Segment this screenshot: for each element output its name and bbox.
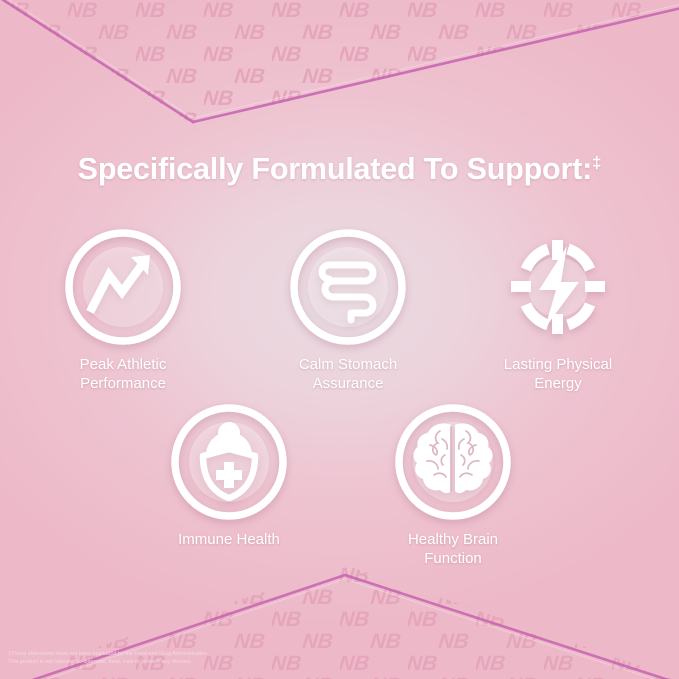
trending-arrow-icon xyxy=(64,228,182,346)
lightning-bolt-icon xyxy=(499,228,617,346)
benefit-peak-athletic-performance: Peak Athletic Performance xyxy=(28,228,218,393)
benefit-label: Immune Health xyxy=(134,530,324,549)
benefit-label-line2: Performance xyxy=(28,374,218,393)
icon-ring xyxy=(394,403,512,521)
icon-ring xyxy=(64,228,182,346)
benefit-lasting-physical-energy: Lasting Physical Energy xyxy=(463,228,653,393)
page-title-text: Specifically Formulated To Support: xyxy=(78,152,592,186)
benefit-label-line1: Lasting Physical xyxy=(463,355,653,374)
benefit-immune-health: Immune Health xyxy=(134,403,324,549)
benefit-calm-stomach-assurance: Calm Stomach Assurance xyxy=(253,228,443,393)
benefit-label-line2: Assurance xyxy=(253,374,443,393)
benefit-label-line2: Function xyxy=(358,549,548,568)
page-title-dagger: ‡ xyxy=(592,153,601,172)
benefit-label-line1: Peak Athletic xyxy=(28,355,218,374)
icon-ring xyxy=(499,228,617,346)
disclaimer-line1: ‡These statements have not been evaluate… xyxy=(8,650,428,658)
benefit-label-line1: Immune Health xyxy=(134,530,324,549)
disclaimer-line2: This product is not intended to diagnose… xyxy=(8,658,428,666)
benefit-label: Peak Athletic Performance xyxy=(28,355,218,393)
benefit-label-line2: Energy xyxy=(463,374,653,393)
benefit-label-line1: Healthy Brain xyxy=(358,530,548,549)
disclaimer: ‡These statements have not been evaluate… xyxy=(8,650,428,667)
benefit-label-line1: Calm Stomach xyxy=(253,355,443,374)
benefit-label: Lasting Physical Energy xyxy=(463,355,653,393)
icon-ring xyxy=(170,403,288,521)
brain-icon xyxy=(394,403,512,521)
page-title: Specifically Formulated To Support:‡ xyxy=(0,152,679,187)
benefit-healthy-brain-function: Healthy Brain Function xyxy=(358,403,548,568)
intestine-icon xyxy=(289,228,407,346)
shield-person-icon xyxy=(170,403,288,521)
product-benefit-graphic: Specifically Formulated To Support:‡ Pea… xyxy=(0,0,679,679)
icon-ring xyxy=(289,228,407,346)
benefit-label: Healthy Brain Function xyxy=(358,530,548,568)
benefit-label: Calm Stomach Assurance xyxy=(253,355,443,393)
